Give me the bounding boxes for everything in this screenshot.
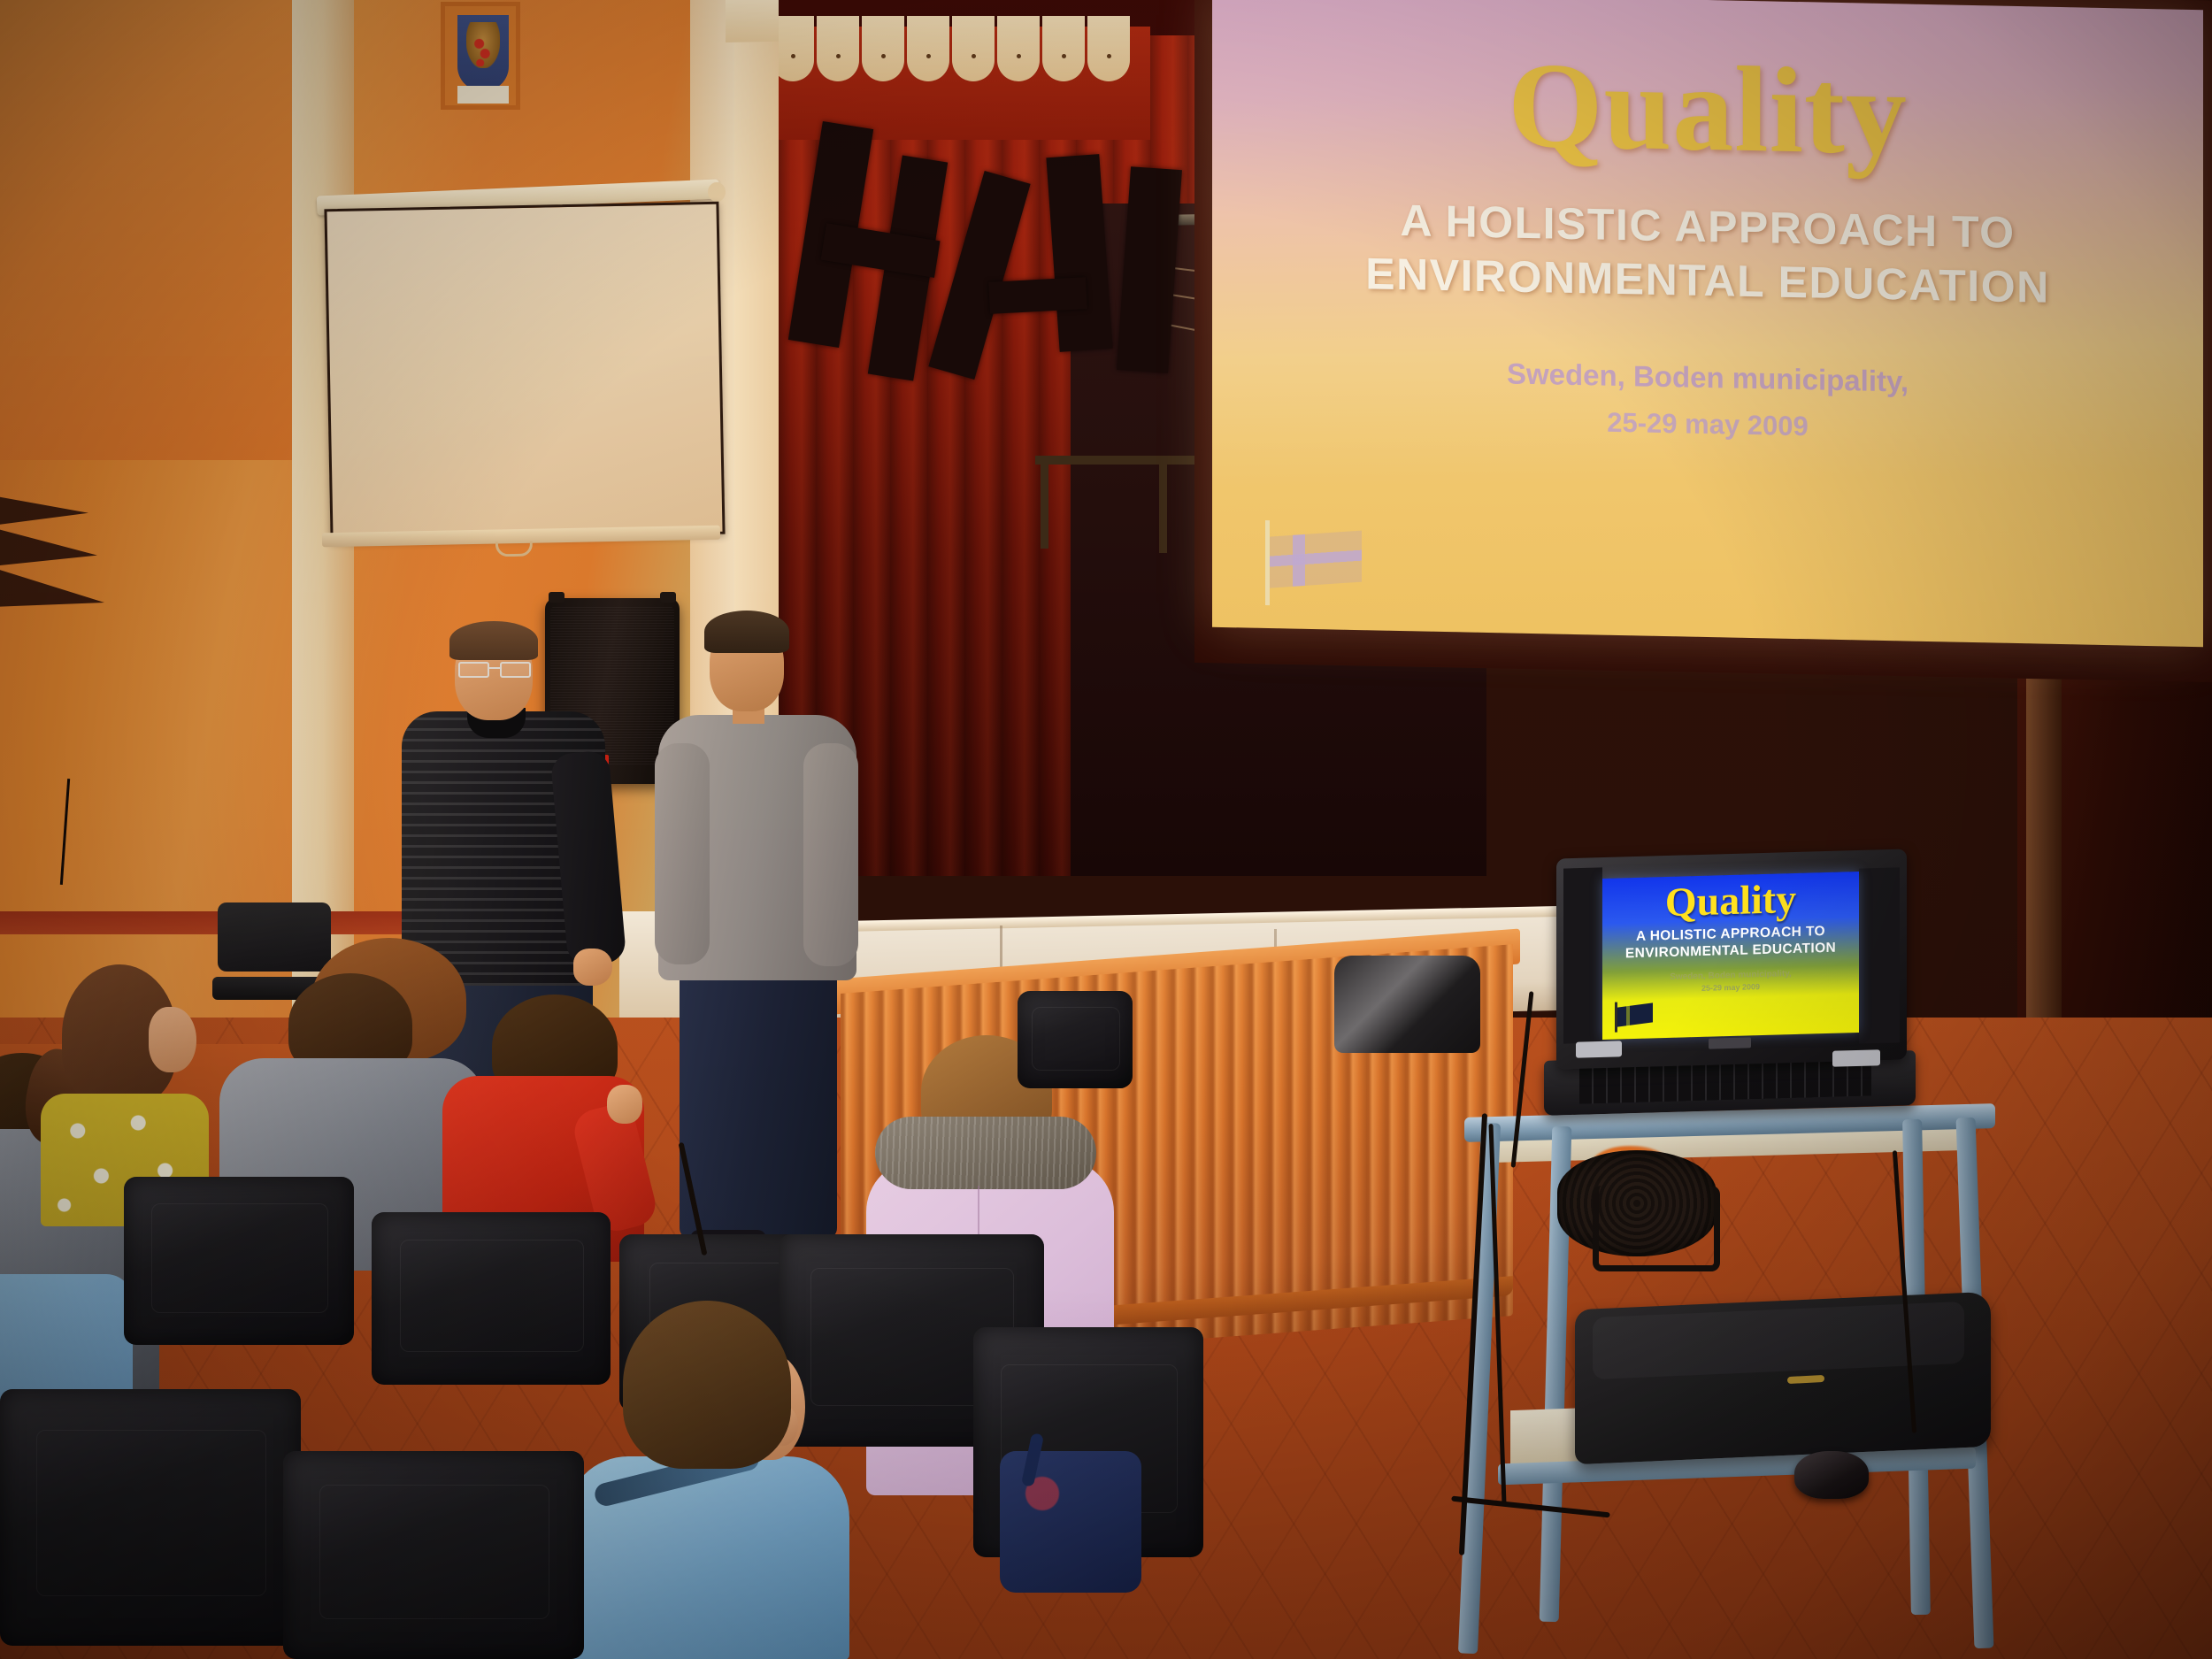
stage-rail-post-2 (1041, 456, 1048, 549)
left-wall-upper (0, 0, 319, 460)
swedish-flag-icon (1615, 1001, 1654, 1032)
glasses-icon (458, 662, 531, 674)
stage-rail (1035, 456, 1221, 465)
projected-slide-subtitle: A HOLISTIC APPROACH TO ENVIRONMENTAL EDU… (1265, 191, 2150, 317)
coat-of-arms-shield (457, 15, 509, 91)
backpack[interactable] (1000, 1451, 1141, 1593)
laptop-speaker-grille (1832, 1049, 1880, 1067)
coat-of-arms-charges (473, 38, 493, 66)
stage-rail-post (1159, 456, 1167, 553)
chair-back[interactable] (283, 1451, 584, 1659)
office-chair[interactable] (1334, 956, 1480, 1053)
fur-trimmed-hood (875, 1117, 1096, 1189)
projected-slide-title: Quality (1265, 39, 2150, 179)
wall-decoration-spikes (0, 495, 124, 628)
boy-blue-shirt (566, 1301, 849, 1659)
laptop-slide-subtitle: A HOLISTIC APPROACH TO ENVIRONMENTAL EDU… (1602, 923, 1859, 964)
pulldown-projection-screen[interactable] (324, 202, 725, 541)
laptop-screen: Quality A HOLISTIC APPROACH TO ENVIRONME… (1602, 872, 1859, 1040)
chair-back[interactable] (0, 1389, 301, 1646)
laptop[interactable]: Quality A HOLISTIC APPROACH TO ENVIRONME… (1544, 854, 1916, 1137)
chair-back[interactable] (124, 1177, 354, 1345)
computer-mouse[interactable] (1794, 1451, 1869, 1499)
cable-reel-handle[interactable] (1593, 1186, 1720, 1271)
laptop-slide-title: Quality (1602, 877, 1859, 925)
coat-of-arms-base (457, 86, 509, 104)
coat-of-arms-frame (441, 2, 520, 110)
presentation-hall-photo: Quality A HOLISTIC APPROACH TO ENVIRONME… (0, 0, 2212, 1659)
valance-scallops (779, 16, 1161, 87)
projected-slide-location: Sweden, Boden municipality, (1265, 352, 2150, 403)
projected-slide-dates: 25-29 may 2009 (1265, 400, 2150, 449)
presenter-grey-sweater (655, 611, 863, 1248)
stage-letter-stroke (988, 277, 1087, 314)
swedish-flag-icon (1265, 520, 1371, 607)
laptop-brand-logo (1709, 1037, 1751, 1048)
laptop-speaker-grille (1576, 1041, 1622, 1057)
projected-slide: Quality A HOLISTIC APPROACH TO ENVIRONME… (1212, 0, 2203, 647)
chair-back[interactable] (1018, 991, 1133, 1088)
